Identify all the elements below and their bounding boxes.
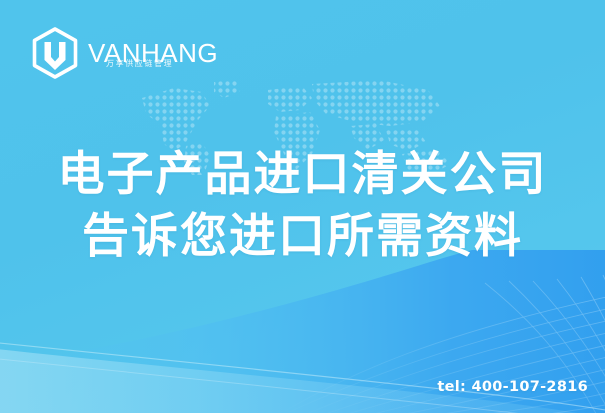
headline-block: 电子产品进口清关公司 告诉您进口所需资料 [0,144,605,268]
logo-subtitle: 万享供应链管理 [106,60,218,68]
logo-text-block: VANHANG 万享供应链管理 [88,38,218,68]
headline-line-1: 电子产品进口清关公司 [0,144,605,206]
hexagon-u-logo-icon [30,27,80,79]
contact-phone[interactable]: tel: 400-107-2816 [437,379,588,395]
headline-line-2: 告诉您进口所需资料 [0,206,605,268]
wave-ribbon-light [0,300,605,413]
brand-logo[interactable]: VANHANG 万享供应链管理 [30,27,218,79]
banner-root: VANHANG 万享供应链管理 电子产品进口清关公司 告诉您进口所需资料 tel… [0,0,605,413]
